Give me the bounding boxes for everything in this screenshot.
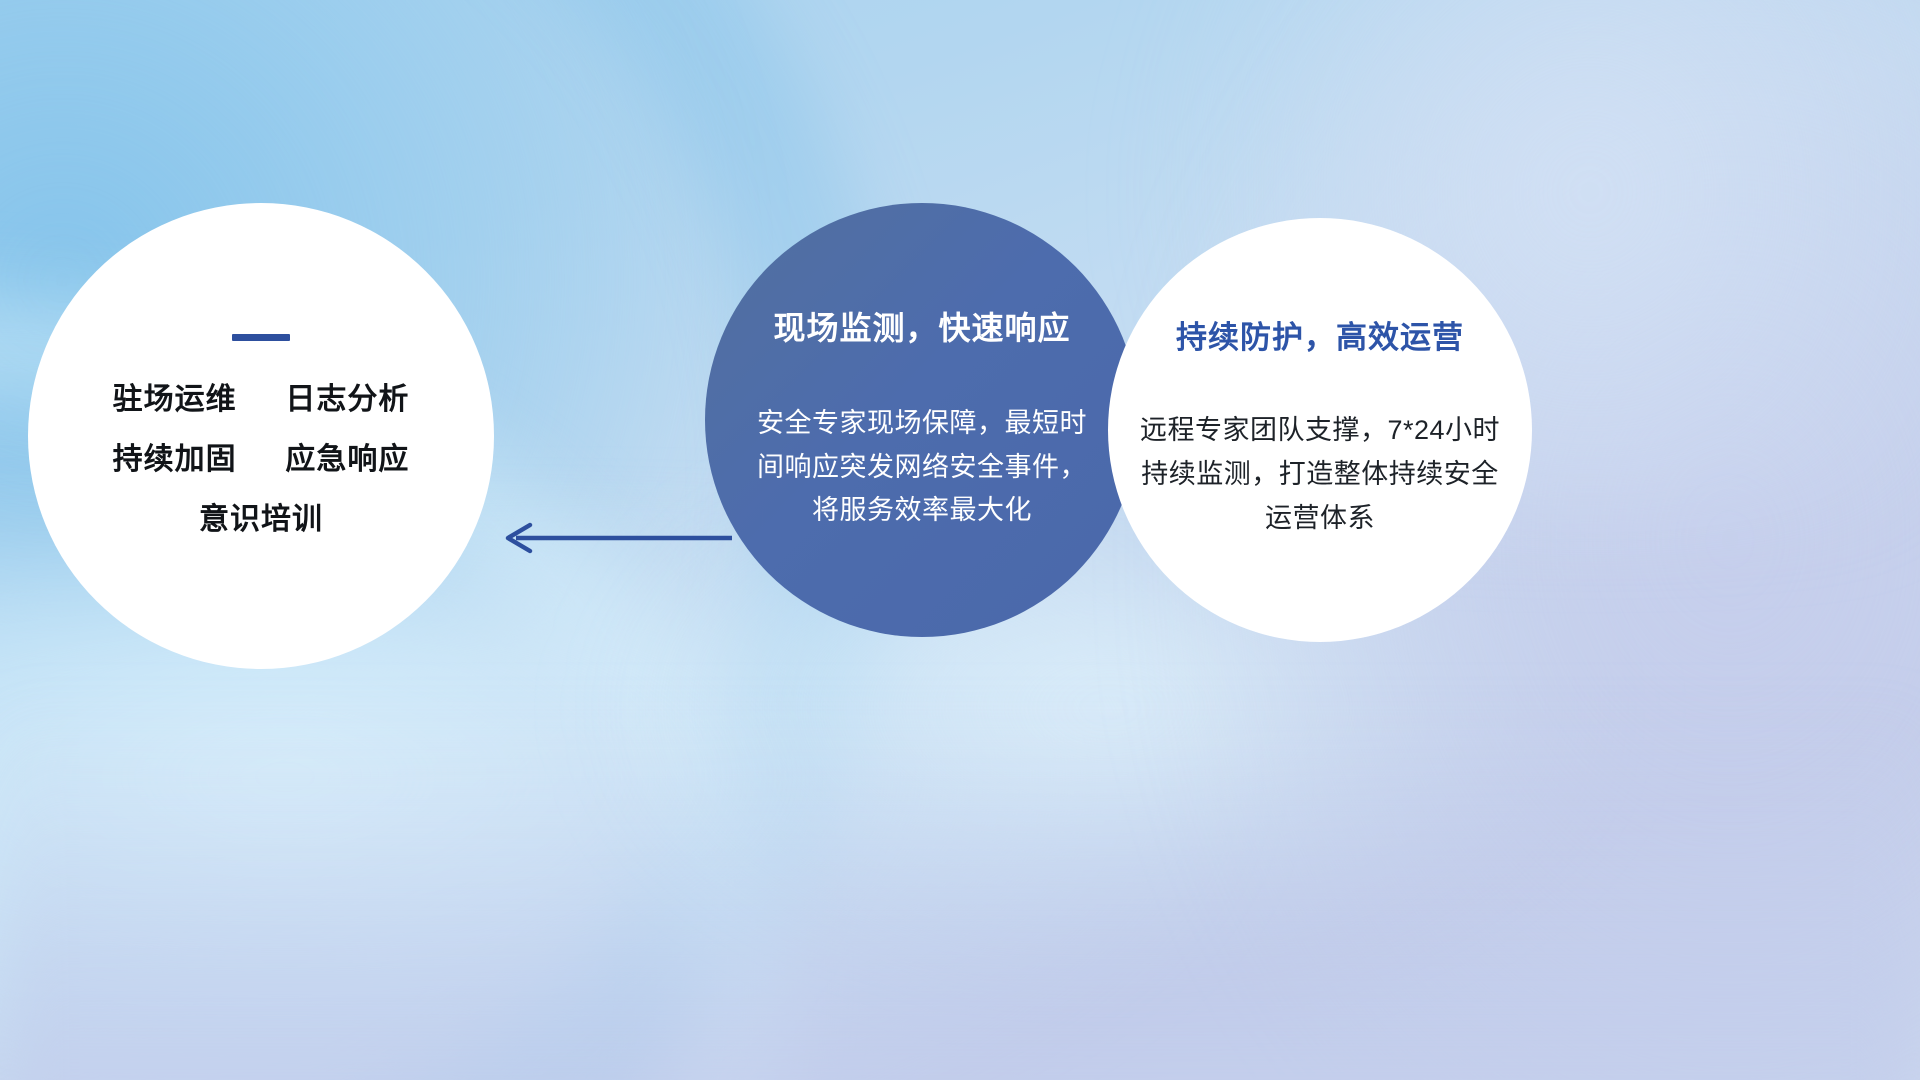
- service-label: 意识培训: [199, 503, 323, 536]
- service-row: 意识培训: [61, 505, 461, 535]
- circle-onsite-title: 现场监测，快速响应: [757, 311, 1087, 346]
- slide-canvas: 驻场运维 日志分析 持续加固 应急响应 意识培训 现场监测，快速响应 安全专家现…: [0, 0, 1920, 1080]
- background-bottom-tint: [0, 700, 1920, 1080]
- service-row: 持续加固 应急响应: [61, 445, 461, 475]
- service-label: 日志分析: [285, 383, 409, 416]
- circle-onsite-content: 现场监测，快速响应 安全专家现场保障，最短时间响应突发网络安全事件，将服务效率最…: [757, 307, 1087, 533]
- circle-onsite-monitoring[interactable]: 现场监测，快速响应 安全专家现场保障，最短时间响应突发网络安全事件，将服务效率最…: [705, 203, 1139, 637]
- service-label: 持续加固: [113, 443, 237, 476]
- circle-remote-body: 远程专家团队支撑，7*24小时持续监测，打造整体持续安全运营体系: [1135, 409, 1505, 540]
- service-label: 驻场运维: [113, 383, 237, 416]
- circle-services[interactable]: 驻场运维 日志分析 持续加固 应急响应 意识培训: [28, 203, 494, 669]
- accent-dash-icon: [232, 334, 290, 341]
- circle-remote-title: 持续防护，高效运营: [1135, 321, 1505, 355]
- service-label: 应急响应: [285, 443, 409, 476]
- service-row: 驻场运维 日志分析: [61, 385, 461, 415]
- circle-onsite-body: 安全专家现场保障，最短时间响应突发网络安全事件，将服务效率最大化: [757, 402, 1087, 533]
- circle-services-content: 驻场运维 日志分析 持续加固 应急响应 意识培训: [61, 334, 461, 539]
- circle-remote-operations[interactable]: 持续防护，高效运营 远程专家团队支撑，7*24小时持续监测，打造整体持续安全运营…: [1108, 218, 1532, 642]
- flow-arrow-left-icon: [486, 515, 732, 561]
- circle-remote-content: 持续防护，高效运营 远程专家团队支撑，7*24小时持续监测，打造整体持续安全运营…: [1135, 319, 1505, 540]
